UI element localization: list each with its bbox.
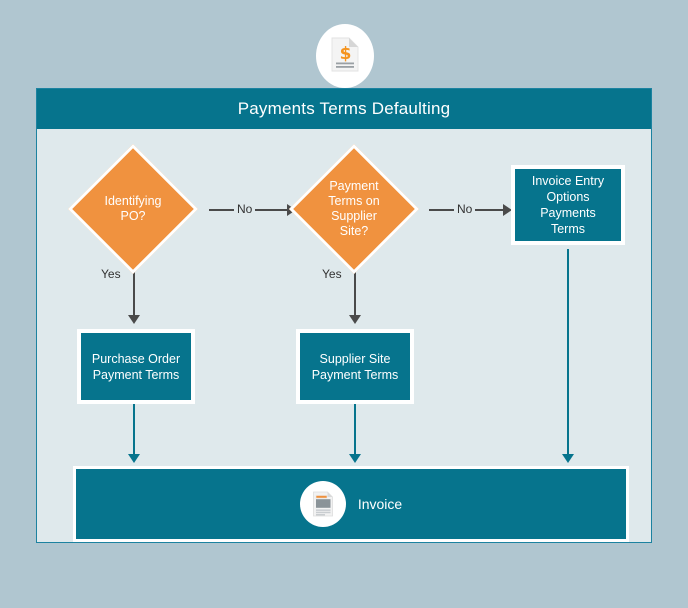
arrowhead-b3-invoice <box>349 454 361 463</box>
edge-label-no-1: No <box>234 202 255 216</box>
edge-label-yes-2: Yes <box>322 267 342 281</box>
decision-identifying-po-label: Identifying PO? <box>83 179 183 239</box>
flowchart-card: Payments Terms Defaulting No No Yes Yes … <box>36 88 652 543</box>
connector-b3-invoice <box>354 404 356 454</box>
box-invoice-entry-options-label: Invoice Entry Options Payments Terms <box>532 173 604 237</box>
invoice-result-bar[interactable]: Invoice <box>73 466 629 542</box>
arrowhead-b1-invoice <box>562 454 574 463</box>
svg-text:$: $ <box>340 44 352 64</box>
edge-label-yes-1: Yes <box>101 267 121 281</box>
card-header: Payments Terms Defaulting <box>37 89 651 129</box>
arrowhead-d1-b2 <box>128 315 140 324</box>
box-purchase-order-payment-terms[interactable]: Purchase Order Payment Terms <box>77 329 195 404</box>
arrowhead-b2-invoice <box>128 454 140 463</box>
box-purchase-order-payment-terms-label: Purchase Order Payment Terms <box>92 351 180 383</box>
diagram-canvas: Payments Terms Defaulting No No Yes Yes … <box>0 0 688 608</box>
page-title: Payments Terms Defaulting <box>238 99 451 119</box>
invoice-dollar-document-icon: $ <box>328 34 362 79</box>
box-invoice-entry-options[interactable]: Invoice Entry Options Payments Terms <box>511 165 625 245</box>
box-supplier-site-payment-terms-label: Supplier Site Payment Terms <box>312 351 399 383</box>
decision-payment-terms-supplier-site-label: Payment Terms on Supplier Site? <box>302 176 406 242</box>
invoice-result-label: Invoice <box>358 496 402 512</box>
box-supplier-site-payment-terms[interactable]: Supplier Site Payment Terms <box>296 329 414 404</box>
header-badge: $ <box>316 24 374 88</box>
connector-b2-invoice <box>133 404 135 454</box>
invoice-document-icon <box>300 481 346 527</box>
arrowhead-d2-b3 <box>349 315 361 324</box>
connector-b1-invoice <box>567 249 569 454</box>
edge-label-no-2: No <box>454 202 475 216</box>
